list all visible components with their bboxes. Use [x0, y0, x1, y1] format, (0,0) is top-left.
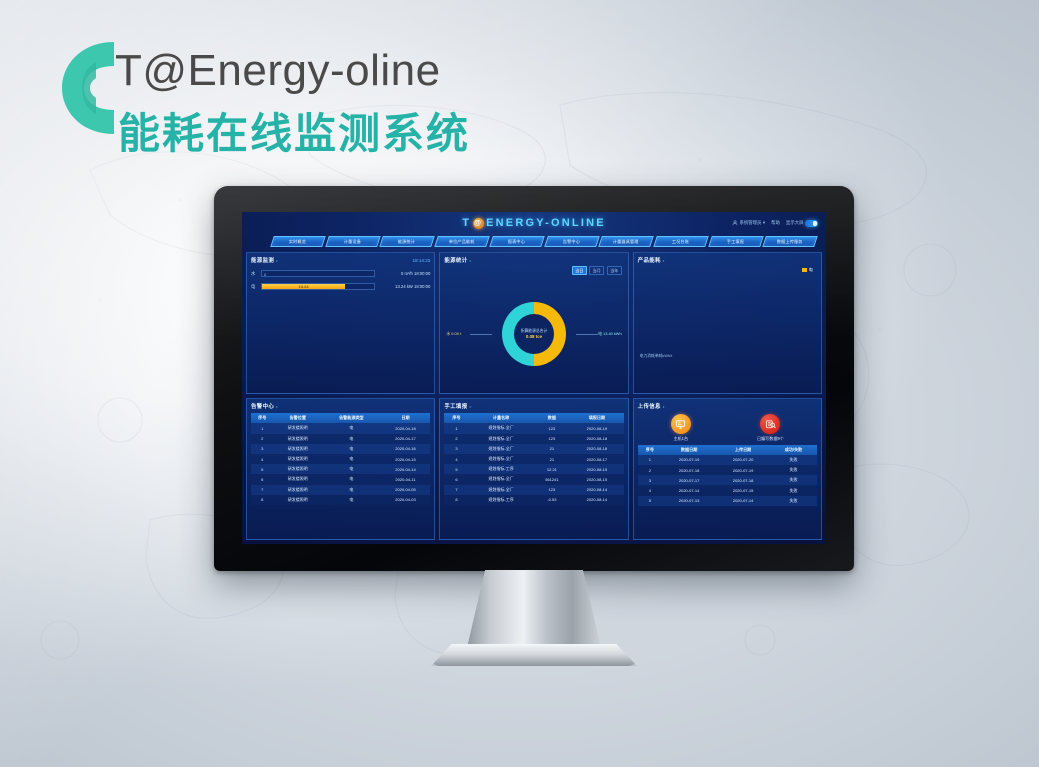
table-cell: 2020-04-14 [381, 464, 431, 474]
fullscreen-label: 显示大屏 [786, 220, 804, 226]
table-column-header: 序号 [444, 413, 468, 423]
table-cell: 2020-08-17 [570, 454, 623, 464]
table-cell: 7 [251, 485, 273, 495]
upload-stat-host[interactable]: 主机1台 [671, 414, 691, 442]
table-row[interactable]: 42020-07-142020-07-15失败 [638, 485, 817, 495]
donut-chart-wrap: 折算能源总合计 0.08 tce 水 0.00 t 电 13.40 kWh [440, 279, 627, 389]
donut-center: 折算能源总合计 0.08 tce [514, 314, 554, 354]
table-row[interactable]: 7研发楼照明电2020-04-05 [251, 485, 430, 495]
legend-swatch-electricity [802, 268, 807, 272]
manual-entry-table: 序号计量名称数据填报日期1规划指标-全厂1232020-08-192规划指标-全… [444, 413, 623, 505]
table-row[interactable]: 5规划指标-工序12.212020-08-15 [444, 464, 623, 474]
product-legend: 电 [802, 267, 813, 273]
table-row[interactable]: 22020-07-182020-07-19失败 [638, 465, 817, 475]
table-column-header: 告警位置 [273, 413, 322, 423]
table-row[interactable]: 2研发楼照明电2020-04-17 [251, 434, 430, 444]
table-cell: 2020-07-14 [716, 496, 770, 506]
document-search-icon [760, 414, 780, 434]
title-text: 手工填报 [444, 402, 467, 410]
table-row[interactable]: 12020-07-192020-07-20失败 [638, 455, 817, 465]
table-cell: 2020-07-17 [662, 475, 716, 485]
table-row[interactable]: 2规划指标-全厂1232020-08-18 [444, 434, 623, 444]
table-cell: 3 [638, 475, 662, 485]
table-cell: 7 [444, 485, 468, 495]
table-cell: 失败 [770, 475, 817, 485]
table-cell: 12.21 [534, 464, 571, 474]
table-cell: 2020-08-14 [570, 495, 623, 505]
table-cell: 2020-07-18 [716, 475, 770, 485]
table-cell: 2 [638, 465, 662, 475]
monitor-mockup: T@ENERGY-ONLINE 系统管理员 ▾ 帮助 [214, 186, 854, 571]
table-cell: 2 [251, 434, 273, 444]
leader-line-left [470, 334, 492, 335]
monitor-glyph [675, 419, 686, 430]
monitor-icon [671, 414, 691, 434]
realtime-row-meta: 13.24 kW 18:00:00 [378, 284, 430, 289]
table-cell: 4 [638, 485, 662, 495]
table-cell: 电 [322, 495, 381, 505]
table-cell: 失败 [770, 465, 817, 475]
expand-dot-icon: • [470, 404, 472, 409]
table-cell: 4 [444, 454, 468, 464]
leader-line-right [576, 334, 598, 335]
table-column-header: 告警能源类型 [322, 413, 381, 423]
table-cell: 研发楼照明 [273, 495, 322, 505]
table-header-row: 序号数据日期上传日期成功/失败 [638, 445, 817, 455]
table-cell: 规划指标-全厂 [469, 485, 534, 495]
donut-label-electricity: 电 13.40 kWh [598, 331, 622, 337]
nav-item-7[interactable]: 工况台账 [653, 236, 708, 247]
table-cell: 21 [534, 444, 571, 454]
table-column-header: 填报日期 [570, 413, 623, 423]
table-cell: 2020-07-15 [716, 485, 770, 495]
table-cell: 2020-08-15 [570, 474, 623, 484]
panel-title-upload-info: 上传信息 • [638, 402, 817, 410]
table-row[interactable]: 7规划指标-全厂1232020-08-14 [444, 485, 623, 495]
table-cell: 6 [444, 474, 468, 484]
table-cell: 规划指标-全厂 [469, 474, 534, 484]
table-cell: 规划指标-全厂 [469, 454, 534, 464]
table-cell: 电 [322, 454, 381, 464]
nav-item-label: 实时概览 [289, 239, 306, 245]
table-cell: 123 [534, 434, 571, 444]
table-row[interactable]: 6规划指标-全厂5612412020-08-15 [444, 474, 623, 484]
table-cell: 研发楼照明 [273, 464, 322, 474]
monitor-screen: T@ENERGY-ONLINE 系统管理员 ▾ 帮助 [242, 212, 826, 544]
fullscreen-toggle-group[interactable]: 显示大屏 [786, 220, 818, 227]
expand-dot-icon: • [663, 258, 665, 263]
dashboard-grid: 能源监测 • 18:14:23 水00 m³/h 18:00:00电13.241… [246, 252, 822, 540]
alarm-table: 序号告警位置告警能源类型日期1研发楼照明电2020-04-182研发楼照明电20… [251, 413, 430, 505]
realtime-row-0: 水00 m³/h 18:00:00 [251, 270, 430, 277]
nav-item-label: 报表中心 [508, 239, 525, 245]
realtime-row-label: 电 [251, 284, 258, 290]
table-cell: 6 [251, 474, 273, 484]
panel-title-energy-monitoring: 能源监测 • [251, 256, 278, 264]
topbar-right-group: 系统管理员 ▾ 帮助 显示大屏 [732, 220, 818, 227]
table-cell: 规划指标-全厂 [469, 444, 534, 454]
monitor-stand-neck [466, 570, 602, 652]
table-row[interactable]: 32020-07-172020-07-18失败 [638, 475, 817, 485]
dashboard-app: T@ENERGY-ONLINE 系统管理员 ▾ 帮助 [242, 212, 826, 544]
period-tab-0[interactable]: 当日 [572, 266, 587, 275]
nav-item-6[interactable]: 计量器具管理 [598, 236, 653, 247]
table-column-header: 成功/失败 [770, 445, 817, 455]
corner-tr [429, 252, 435, 258]
table-cell: 规划指标-工序 [469, 495, 534, 505]
upload-stat-records-label: 已编写数据9个 [757, 436, 784, 442]
nav-item-1[interactable]: 计量设备 [325, 236, 380, 247]
page-title-en: T@Energy-oline [115, 46, 441, 96]
realtime-row-meta: 0 m³/h 18:00:00 [378, 271, 430, 276]
table-row[interactable]: 4规划指标-全厂212020-08-17 [444, 454, 623, 464]
nav-item-label: 手工填报 [727, 239, 744, 245]
realtime-rows: 水00 m³/h 18:00:00电13.2413.24 kW 18:00:00 [251, 270, 430, 290]
nav-item-8[interactable]: 手工填报 [708, 236, 763, 247]
corner-bl [633, 388, 639, 394]
title-text: 能源统计 [444, 256, 467, 264]
page-title-cn: 能耗在线监测系统 [118, 100, 470, 161]
realtime-row-1: 电13.2413.24 kW 18:00:00 [251, 283, 430, 290]
legend-label-electricity: 电 [809, 267, 813, 273]
title-text: 告警中心 [251, 402, 274, 410]
donut-label-water: 水 0.00 t [446, 331, 461, 337]
table-cell: 电 [322, 423, 381, 433]
table-cell: 561241 [534, 474, 571, 484]
table-cell: 1 [638, 455, 662, 465]
table-cell: 规划指标-全厂 [469, 423, 534, 433]
document-search-glyph [765, 419, 776, 430]
nav-item-9[interactable]: 数据上传服务 [763, 236, 818, 247]
table-cell: 规划指标-工序 [469, 464, 534, 474]
corner-br [429, 388, 435, 394]
table-cell: 电 [322, 485, 381, 495]
table-row[interactable]: 1研发楼照明电2020-04-18 [251, 423, 430, 433]
realtime-clock: 18:14:23 [412, 258, 430, 263]
table-cell: 电 [322, 464, 381, 474]
table-cell: 2020-08-19 [570, 423, 623, 433]
table-cell: 研发楼照明 [273, 423, 322, 433]
panel-title-manual-entry: 手工填报 • [444, 402, 623, 410]
app-logo: T@ENERGY-ONLINE [462, 217, 606, 229]
corner-bl [246, 388, 252, 394]
product-yaxis-label: 电力消耗单耗kWh/t [640, 354, 673, 359]
nav-item-4[interactable]: 报表中心 [489, 236, 544, 247]
corner-tr [816, 252, 822, 258]
panel-product-energy: 产品能耗 • 电 电力消耗单耗kWh/t [633, 252, 822, 394]
corner-tl [439, 398, 445, 404]
nav-item-label: 工况台账 [672, 239, 689, 245]
table-cell: 3 [444, 444, 468, 454]
nav-item-label: 数据上传服务 [777, 239, 803, 245]
corner-tl [439, 252, 445, 258]
table-row[interactable]: 1规划指标-全厂1232020-08-19 [444, 423, 623, 433]
panel-energy-monitoring: 能源监测 • 18:14:23 水00 m³/h 18:00:00电13.241… [246, 252, 435, 394]
upload-table: 序号数据日期上传日期成功/失败12020-07-192020-07-20失败22… [638, 445, 817, 506]
table-cell: 2020-08-15 [570, 464, 623, 474]
realtime-bar-zero-value: 0 [264, 272, 266, 277]
table-cell: 5 [638, 496, 662, 506]
nav-item-5[interactable]: 告警中心 [544, 236, 599, 247]
corner-tr [429, 398, 435, 404]
upload-stat-host-label: 主机1台 [671, 436, 691, 442]
table-cell: 21 [534, 454, 571, 464]
period-tab-1[interactable]: 当月 [589, 266, 604, 275]
table-column-header: 数据 [534, 413, 571, 423]
table-cell: 研发楼照明 [273, 434, 322, 444]
table-cell: 123 [534, 485, 571, 495]
corner-tl [246, 398, 252, 404]
corner-tr [623, 398, 629, 404]
realtime-row-label: 水 [251, 271, 258, 277]
monitor-stand-base [431, 644, 637, 666]
chevron-down-icon: ▾ [763, 220, 765, 226]
corner-tl [633, 398, 639, 404]
page-header: T@Energy-oline 能耗在线监测系统 [50, 24, 610, 154]
table-cell: 2020-07-19 [716, 465, 770, 475]
table-cell: 8 [444, 495, 468, 505]
main-navigation: 实时概览计量设备能源统计单位产品能耗报表中心告警中心计量器具管理工况台账手工填报… [272, 236, 816, 248]
period-tabs: 当日当月当年 [572, 266, 622, 275]
user-name: 系统管理员 [739, 220, 761, 226]
table-row[interactable]: 3研发楼照明电2020-04-16 [251, 444, 430, 454]
table-cell: 5 [251, 464, 273, 474]
app-logo-at-icon: @ [473, 218, 484, 229]
corner-br [816, 388, 822, 394]
table-cell: 电 [322, 434, 381, 444]
table-cell: 3 [251, 444, 273, 454]
realtime-bar: 0 [261, 270, 375, 277]
table-cell: 2020-08-18 [570, 444, 623, 454]
realtime-bar-fill: 13.24 [262, 284, 345, 289]
table-cell: 2020-04-15 [381, 454, 431, 464]
expand-dot-icon: • [470, 258, 472, 263]
table-cell: 失败 [770, 485, 817, 495]
table-cell: 4 [251, 454, 273, 464]
corner-tl [246, 252, 252, 258]
table-cell: 2020-04-16 [381, 444, 431, 454]
table-row[interactable]: 4研发楼照明电2020-04-15 [251, 454, 430, 464]
title-text: 能源监测 [251, 256, 274, 264]
table-column-header: 数据日期 [662, 445, 716, 455]
panel-title-energy-statistics: 能源统计 • [444, 256, 623, 264]
nav-item-label: 告警中心 [563, 239, 580, 245]
expand-dot-icon: • [663, 404, 665, 409]
fullscreen-toggle[interactable] [805, 220, 818, 227]
corner-br [623, 534, 629, 540]
app-logo-t: T [462, 217, 471, 229]
table-row[interactable]: 3规划指标-全厂212020-08-18 [444, 444, 623, 454]
table-cell: 2020-04-17 [381, 434, 431, 444]
table-cell: 2020-08-14 [570, 485, 623, 495]
table-column-header: 计量名称 [469, 413, 534, 423]
table-cell: 2020-08-18 [570, 434, 623, 444]
nav-item-2[interactable]: 能源统计 [380, 236, 435, 247]
table-cell: 研发楼照明 [273, 474, 322, 484]
corner-tr [623, 252, 629, 258]
nav-item-3[interactable]: 单位产品能耗 [434, 236, 489, 247]
table-header-row: 序号告警位置告警能源类型日期 [251, 413, 430, 423]
table-cell: 1 [251, 423, 273, 433]
panel-alarm-center: 告警中心 • 序号告警位置告警能源类型日期1研发楼照明电2020-04-182研… [246, 398, 435, 540]
table-cell: 2020-04-18 [381, 423, 431, 433]
corner-bl [439, 534, 445, 540]
panel-title-alarm-center: 告警中心 • [251, 402, 430, 410]
table-column-header: 序号 [638, 445, 662, 455]
donut-center-label: 折算能源总合计 [521, 329, 548, 334]
upload-stat-records[interactable]: 已编写数据9个 [757, 414, 784, 442]
corner-bl [246, 534, 252, 540]
table-cell: 2020-04-03 [381, 495, 431, 505]
table-cell: 5 [444, 464, 468, 474]
panel-manual-entry: 手工填报 • 序号计量名称数据填报日期1规划指标-全厂1232020-08-19… [439, 398, 628, 540]
table-row[interactable]: 52020-07-132020-07-14失败 [638, 496, 817, 506]
table-cell: 2020-07-14 [662, 485, 716, 495]
help-label: 帮助 [771, 220, 780, 226]
table-cell: 2020-07-13 [662, 496, 716, 506]
table-cell: 研发楼照明 [273, 454, 322, 464]
table-cell: 电 [322, 444, 381, 454]
table-cell: 2020-04-11 [381, 474, 431, 484]
expand-dot-icon: • [276, 258, 278, 263]
table-header-row: 序号计量名称数据填报日期 [444, 413, 623, 423]
nav-item-label: 计量器具管理 [613, 239, 639, 245]
table-cell: 研发楼照明 [273, 444, 322, 454]
period-tab-2[interactable]: 当年 [607, 266, 622, 275]
table-column-header: 上传日期 [716, 445, 770, 455]
table-cell: 2 [444, 434, 468, 444]
table-cell: 2020-07-20 [716, 455, 770, 465]
table-cell: 研发楼照明 [273, 485, 322, 495]
app-topbar: T@ENERGY-ONLINE 系统管理员 ▾ 帮助 [242, 212, 826, 249]
user-menu[interactable]: 系统管理员 ▾ [732, 220, 765, 226]
table-row[interactable]: 6研发楼照明电2020-04-11 [251, 474, 430, 484]
panel-upload-info: 上传信息 • 主机1台 [633, 398, 822, 540]
table-cell: 电 [322, 474, 381, 484]
panel-title-product-energy: 产品能耗 • [638, 256, 817, 264]
panel-energy-statistics: 能源统计 • 当日当月当年 折算能源总合计 0.08 tce 水 0.00 t [439, 252, 628, 394]
nav-item-label: 单位产品能耗 [449, 239, 475, 245]
corner-br [429, 534, 435, 540]
table-cell: 2020-04-05 [381, 485, 431, 495]
donut-center-value: 0.08 tce [526, 334, 542, 339]
title-text: 产品能耗 [638, 256, 661, 264]
table-row[interactable]: 8研发楼照明电2020-04-03 [251, 495, 430, 505]
realtime-bar: 13.24 [261, 283, 375, 290]
table-cell: 123 [534, 423, 571, 433]
title-text: 上传信息 [638, 402, 661, 410]
expand-dot-icon: • [276, 404, 278, 409]
table-cell: 规划指标-全厂 [469, 434, 534, 444]
upload-stat-icons: 主机1台 已编写数据9个 [638, 414, 817, 442]
table-column-header: 序号 [251, 413, 273, 423]
nav-item-label: 计量设备 [344, 239, 361, 245]
corner-tl [633, 252, 639, 258]
table-cell: 1 [444, 423, 468, 433]
nav-item-label: 能源统计 [399, 239, 416, 245]
table-cell: 失败 [770, 455, 817, 465]
nav-item-0[interactable]: 实时概览 [270, 236, 325, 247]
table-cell: 2020-07-18 [662, 465, 716, 475]
table-row[interactable]: 5研发楼照明电2020-04-14 [251, 464, 430, 474]
corner-br [816, 534, 822, 540]
table-cell: -0.53 [534, 495, 571, 505]
corner-bl [633, 534, 639, 540]
app-logo-rest: ENERGY-ONLINE [486, 217, 606, 229]
user-icon [732, 220, 738, 226]
table-cell: 2020-07-19 [662, 455, 716, 465]
table-cell: 8 [251, 495, 273, 505]
table-column-header: 日期 [381, 413, 431, 423]
table-cell: 失败 [770, 496, 817, 506]
help-button[interactable]: 帮助 [771, 220, 780, 226]
corner-tr [816, 398, 822, 404]
table-row[interactable]: 8规划指标-工序-0.532020-08-14 [444, 495, 623, 505]
